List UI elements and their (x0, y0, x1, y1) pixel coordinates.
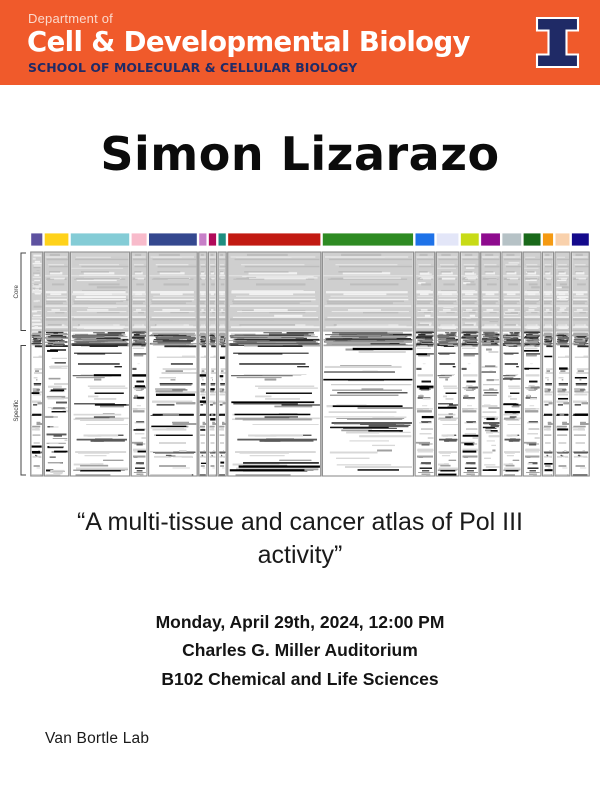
heatmap-svg: CoreSpecific (8, 233, 592, 478)
illinois-block-i-logo (528, 13, 587, 72)
speaker-name: Simon Lizarazo (0, 127, 600, 181)
svg-text:Specific: Specific (13, 400, 20, 422)
heatmap-figure: CoreSpecific (8, 233, 592, 478)
department-eyebrow: Department of (28, 11, 113, 26)
event-details: Monday, April 29th, 2024, 12:00 PM Charl… (0, 608, 600, 693)
event-building: B102 Chemical and Life Sciences (0, 665, 600, 693)
department-title: Cell & Developmental Biology (27, 26, 470, 58)
header-banner: Department of Cell & Developmental Biolo… (0, 0, 600, 85)
event-datetime: Monday, April 29th, 2024, 12:00 PM (0, 608, 600, 636)
talk-title: “A multi-tissue and cancer atlas of Pol … (40, 506, 560, 572)
svg-text:Core: Core (13, 285, 20, 299)
event-venue: Charles G. Miller Auditorium (0, 636, 600, 664)
school-subtitle: SCHOOL OF MOLECULAR & CELLULAR BIOLOGY (28, 60, 357, 75)
lab-footer: Van Bortle Lab (45, 730, 149, 748)
